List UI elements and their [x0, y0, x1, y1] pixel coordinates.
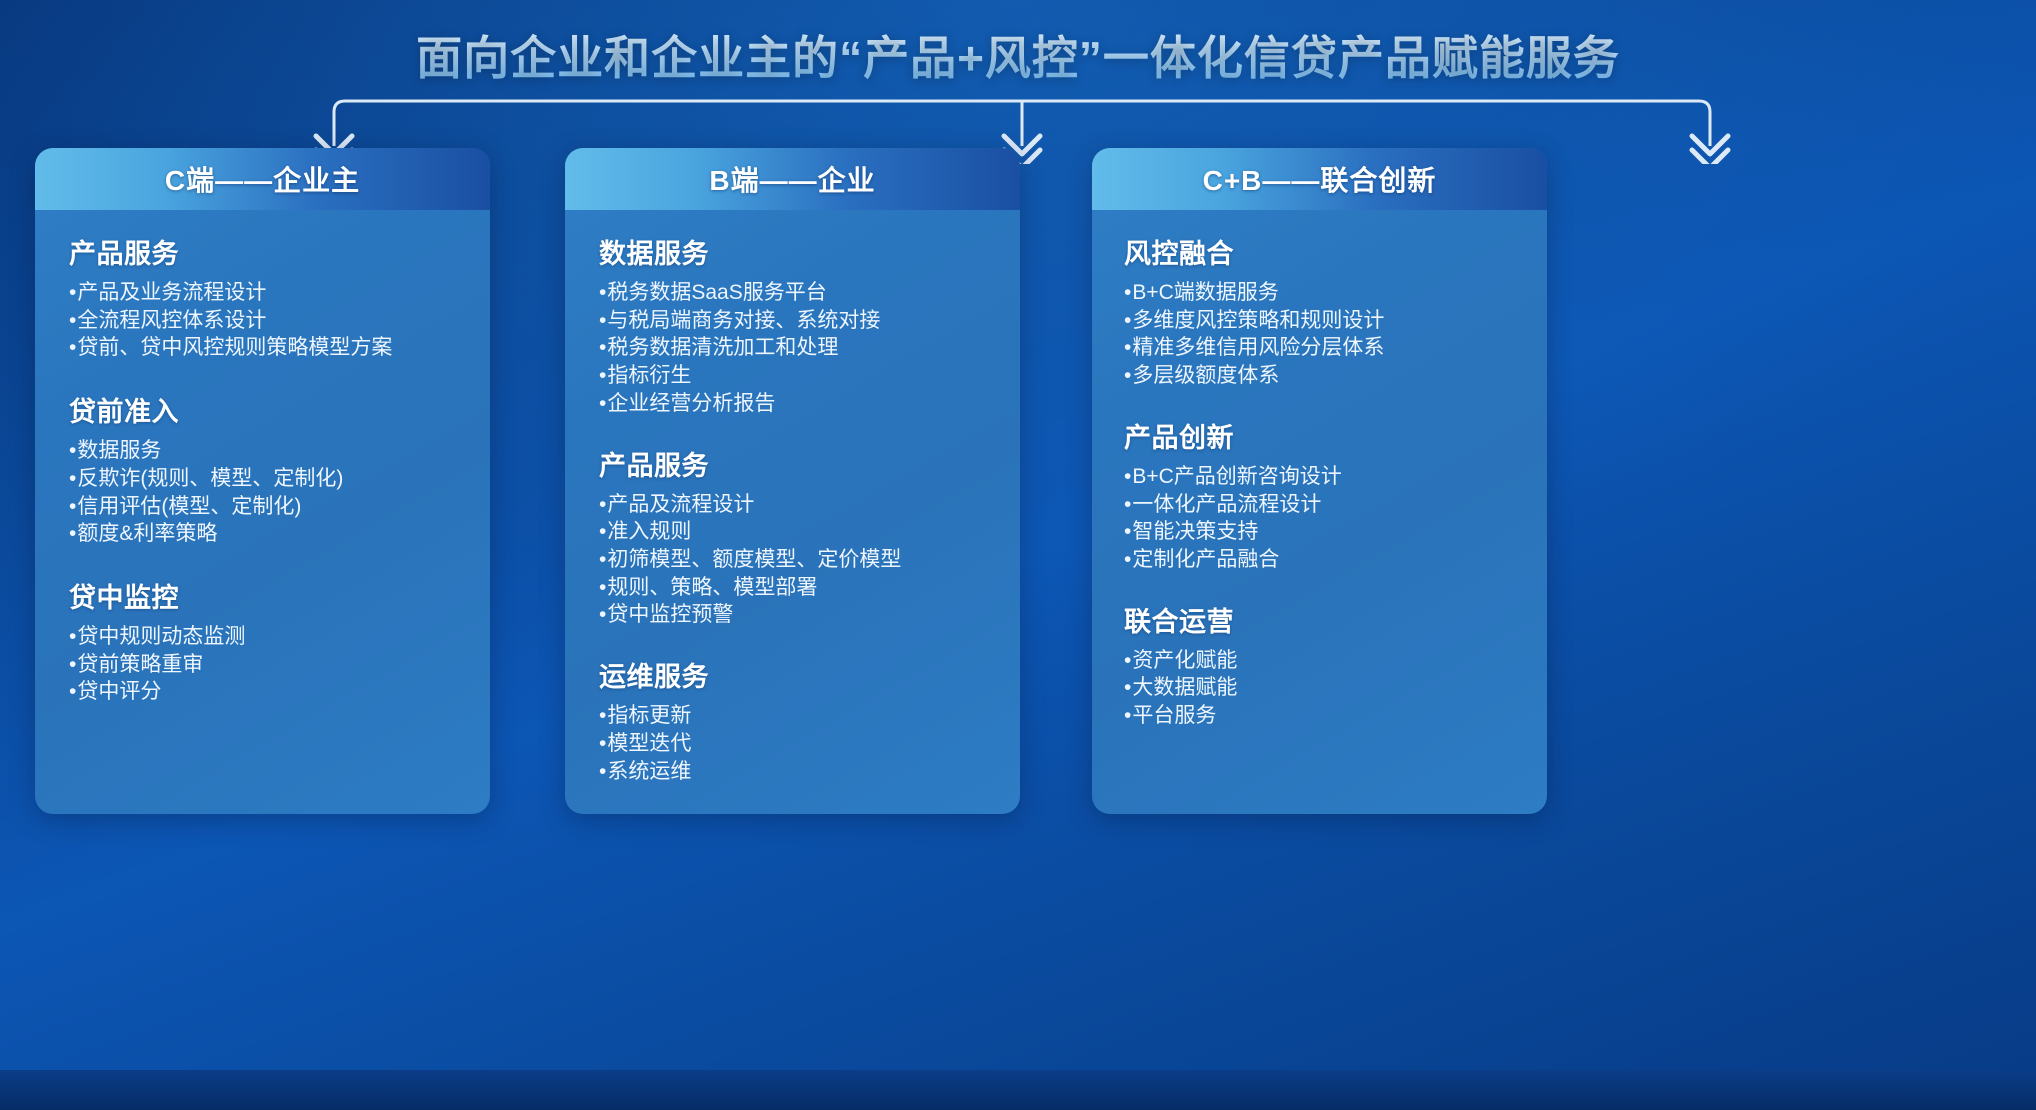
bullet-list: •产品及流程设计 •准入规则 •初筛模型、额度模型、定价模型 •规则、策略、模型… — [599, 491, 994, 630]
list-item: •全流程风控体系设计 — [69, 307, 464, 335]
list-item-label: 信用评估(模型、定制化) — [77, 493, 301, 521]
list-item-label: 智能决策支持 — [1132, 518, 1258, 546]
list-item-label: 模型迭代 — [607, 730, 691, 758]
list-item-label: 系统运维 — [607, 758, 691, 786]
bullet-dot-icon: • — [69, 493, 76, 521]
section-group: 运维服务 •指标更新 •模型迭代 •系统运维 — [599, 655, 994, 785]
bullet-dot-icon: • — [599, 730, 606, 758]
section-group: 数据服务 •税务数据SaaS服务平台 •与税局端商务对接、系统对接 •税务数据清… — [599, 232, 994, 418]
list-item: •企业经营分析报告 — [599, 390, 994, 418]
list-item: •多维度风控策略和规则设计 — [1124, 307, 1521, 335]
list-item: •初筛模型、额度模型、定价模型 — [599, 546, 994, 574]
list-item-label: 税务数据SaaS服务平台 — [607, 279, 826, 307]
column-header-label: C+B——联合创新 — [1203, 159, 1437, 199]
bullet-dot-icon: • — [69, 678, 76, 706]
list-item-label: 规则、策略、模型部署 — [607, 574, 817, 602]
bullet-list: •产品及业务流程设计 •全流程风控体系设计 •贷前、贷中风控规则策略模型方案 — [69, 279, 464, 362]
bullet-dot-icon: • — [599, 279, 606, 307]
bullet-list: •数据服务 •反欺诈(规则、模型、定制化) •信用评估(模型、定制化) •额度&… — [69, 437, 464, 548]
list-item: •准入规则 — [599, 518, 994, 546]
list-item: •智能决策支持 — [1124, 518, 1521, 546]
list-item: •平台服务 — [1124, 702, 1521, 730]
list-item-label: B+C产品创新咨询设计 — [1132, 463, 1341, 491]
section-group: 贷中监控 •贷中规则动态监测 •贷前策略重审 •贷中评分 — [69, 576, 464, 706]
bullet-dot-icon: • — [1124, 279, 1131, 307]
bullet-dot-icon: • — [69, 279, 76, 307]
column-card-cb-joint: C+B——联合创新 风控融合 •B+C端数据服务 •多维度风控策略和规则设计 •… — [1092, 148, 1547, 814]
list-item-label: 指标衍生 — [607, 362, 691, 390]
bullet-dot-icon: • — [599, 574, 606, 602]
list-item: •与税局端商务对接、系统对接 — [599, 307, 994, 335]
list-item-label: 一体化产品流程设计 — [1132, 491, 1321, 519]
bullet-dot-icon: • — [599, 334, 606, 362]
section-title: 联合运营 — [1124, 600, 1521, 639]
column-header-b-end: B端——企业 — [565, 148, 1020, 210]
list-item: •定制化产品融合 — [1124, 546, 1521, 574]
column-header-c-end: C端——企业主 — [35, 148, 490, 210]
section-title: 风控融合 — [1124, 232, 1521, 271]
list-item-label: 准入规则 — [607, 518, 691, 546]
page-title: 面向企业和企业主的“产品+风控”一体化信贷产品赋能服务 — [416, 22, 1620, 88]
list-item-label: 税务数据清洗加工和处理 — [607, 334, 838, 362]
page-title-container: 面向企业和企业主的“产品+风控”一体化信贷产品赋能服务 — [0, 22, 2036, 88]
section-title: 贷中监控 — [69, 576, 464, 615]
list-item-label: 定制化产品融合 — [1132, 546, 1279, 574]
list-item: •贷前、贷中风控规则策略模型方案 — [69, 334, 464, 362]
list-item-label: 额度&利率策略 — [77, 520, 217, 548]
list-item: •税务数据SaaS服务平台 — [599, 279, 994, 307]
list-item: •B+C端数据服务 — [1124, 279, 1521, 307]
list-item: •系统运维 — [599, 758, 994, 786]
bullet-list: •B+C端数据服务 •多维度风控策略和规则设计 •精准多维信用风险分层体系 •多… — [1124, 279, 1521, 390]
list-item: •额度&利率策略 — [69, 520, 464, 548]
bottom-strip — [0, 1070, 2036, 1110]
section-title: 运维服务 — [599, 655, 994, 694]
list-item: •信用评估(模型、定制化) — [69, 493, 464, 521]
list-item-label: 初筛模型、额度模型、定价模型 — [607, 546, 901, 574]
section-group: 风控融合 •B+C端数据服务 •多维度风控策略和规则设计 •精准多维信用风险分层… — [1124, 232, 1521, 390]
bullet-dot-icon: • — [69, 520, 76, 548]
bullet-dot-icon: • — [1124, 546, 1131, 574]
column-card-c-end: C端——企业主 产品服务 •产品及业务流程设计 •全流程风控体系设计 •贷前、贷… — [35, 148, 490, 814]
list-item: •税务数据清洗加工和处理 — [599, 334, 994, 362]
list-item: •贷中监控预警 — [599, 601, 994, 629]
section-title: 贷前准入 — [69, 390, 464, 429]
list-item-label: 贷前、贷中风控规则策略模型方案 — [77, 334, 392, 362]
bullet-dot-icon: • — [1124, 334, 1131, 362]
bullet-dot-icon: • — [599, 546, 606, 574]
bullet-dot-icon: • — [1124, 491, 1131, 519]
bullet-dot-icon: • — [599, 601, 606, 629]
bullet-list: •资产化赋能 •大数据赋能 •平台服务 — [1124, 647, 1521, 730]
bullet-dot-icon: • — [599, 758, 606, 786]
bullet-dot-icon: • — [69, 623, 76, 651]
column-header-label: B端——企业 — [709, 159, 875, 199]
bullet-list: •B+C产品创新咨询设计 •一体化产品流程设计 •智能决策支持 •定制化产品融合 — [1124, 463, 1521, 574]
column-header-label: C端——企业主 — [165, 159, 360, 199]
list-item: •产品及业务流程设计 — [69, 279, 464, 307]
list-item: •贷中评分 — [69, 678, 464, 706]
bullet-dot-icon: • — [69, 465, 76, 493]
list-item-label: 多层级额度体系 — [1132, 362, 1279, 390]
list-item: •精准多维信用风险分层体系 — [1124, 334, 1521, 362]
bullet-dot-icon: • — [69, 334, 76, 362]
bullet-dot-icon: • — [1124, 518, 1131, 546]
section-title: 产品创新 — [1124, 416, 1521, 455]
column-header-cb-joint: C+B——联合创新 — [1092, 148, 1547, 210]
list-item: •指标衍生 — [599, 362, 994, 390]
list-item: •规则、策略、模型部署 — [599, 574, 994, 602]
bullet-dot-icon: • — [599, 362, 606, 390]
section-title: 数据服务 — [599, 232, 994, 271]
list-item-label: 反欺诈(规则、模型、定制化) — [77, 465, 343, 493]
list-item: •大数据赋能 — [1124, 674, 1521, 702]
section-group: 产品服务 •产品及流程设计 •准入规则 •初筛模型、额度模型、定价模型 •规则、… — [599, 444, 994, 630]
bullet-dot-icon: • — [1124, 702, 1131, 730]
section-group: 产品创新 •B+C产品创新咨询设计 •一体化产品流程设计 •智能决策支持 •定制… — [1124, 416, 1521, 574]
list-item-label: 全流程风控体系设计 — [77, 307, 266, 335]
list-item-label: 产品及流程设计 — [607, 491, 754, 519]
column-body-cb-joint: 风控融合 •B+C端数据服务 •多维度风控策略和规则设计 •精准多维信用风险分层… — [1092, 210, 1547, 774]
bullet-dot-icon: • — [1124, 463, 1131, 491]
bullet-dot-icon: • — [599, 702, 606, 730]
list-item-label: 贷中评分 — [77, 678, 161, 706]
list-item: •数据服务 — [69, 437, 464, 465]
bullet-dot-icon: • — [599, 307, 606, 335]
list-item-label: 与税局端商务对接、系统对接 — [607, 307, 880, 335]
list-item-label: 贷中监控预警 — [607, 601, 733, 629]
list-item-label: B+C端数据服务 — [1132, 279, 1278, 307]
list-item: •反欺诈(规则、模型、定制化) — [69, 465, 464, 493]
column-body-c-end: 产品服务 •产品及业务流程设计 •全流程风控体系设计 •贷前、贷中风控规则策略模… — [35, 210, 490, 752]
list-item: •贷中规则动态监测 — [69, 623, 464, 651]
list-item-label: 平台服务 — [1132, 702, 1216, 730]
section-group: 联合运营 •资产化赋能 •大数据赋能 •平台服务 — [1124, 600, 1521, 730]
list-item: •产品及流程设计 — [599, 491, 994, 519]
bullet-dot-icon: • — [1124, 362, 1131, 390]
list-item-label: 大数据赋能 — [1132, 674, 1237, 702]
slide-canvas: 面向企业和企业主的“产品+风控”一体化信贷产品赋能服务 C端——企业 — [0, 0, 2036, 1110]
bullet-dot-icon: • — [1124, 674, 1131, 702]
column-body-b-end: 数据服务 •税务数据SaaS服务平台 •与税局端商务对接、系统对接 •税务数据清… — [565, 210, 1020, 814]
list-item-label: 产品及业务流程设计 — [77, 279, 266, 307]
list-item: •多层级额度体系 — [1124, 362, 1521, 390]
list-item: •B+C产品创新咨询设计 — [1124, 463, 1521, 491]
list-item-label: 指标更新 — [607, 702, 691, 730]
list-item: •模型迭代 — [599, 730, 994, 758]
bullet-dot-icon: • — [69, 437, 76, 465]
section-title: 产品服务 — [69, 232, 464, 271]
bullet-dot-icon: • — [1124, 307, 1131, 335]
bullet-dot-icon: • — [69, 307, 76, 335]
list-item-label: 资产化赋能 — [1132, 647, 1237, 675]
section-title: 产品服务 — [599, 444, 994, 483]
list-item-label: 贷中规则动态监测 — [77, 623, 245, 651]
section-group: 产品服务 •产品及业务流程设计 •全流程风控体系设计 •贷前、贷中风控规则策略模… — [69, 232, 464, 362]
list-item: •一体化产品流程设计 — [1124, 491, 1521, 519]
list-item-label: 企业经营分析报告 — [607, 390, 775, 418]
list-item-label: 数据服务 — [77, 437, 161, 465]
bullet-list: •指标更新 •模型迭代 •系统运维 — [599, 702, 994, 785]
list-item: •贷前策略重审 — [69, 651, 464, 679]
bullet-dot-icon: • — [599, 390, 606, 418]
list-item-label: 贷前策略重审 — [77, 651, 203, 679]
list-item-label: 精准多维信用风险分层体系 — [1132, 334, 1384, 362]
bullet-dot-icon: • — [1124, 647, 1131, 675]
list-item: •资产化赋能 — [1124, 647, 1521, 675]
bullet-dot-icon: • — [599, 491, 606, 519]
section-group: 贷前准入 •数据服务 •反欺诈(规则、模型、定制化) •信用评估(模型、定制化)… — [69, 390, 464, 548]
list-item-label: 多维度风控策略和规则设计 — [1132, 307, 1384, 335]
column-card-b-end: B端——企业 数据服务 •税务数据SaaS服务平台 •与税局端商务对接、系统对接… — [565, 148, 1020, 814]
bullet-list: •税务数据SaaS服务平台 •与税局端商务对接、系统对接 •税务数据清洗加工和处… — [599, 279, 994, 418]
list-item: •指标更新 — [599, 702, 994, 730]
bullet-list: •贷中规则动态监测 •贷前策略重审 •贷中评分 — [69, 623, 464, 706]
bullet-dot-icon: • — [69, 651, 76, 679]
bullet-dot-icon: • — [599, 518, 606, 546]
